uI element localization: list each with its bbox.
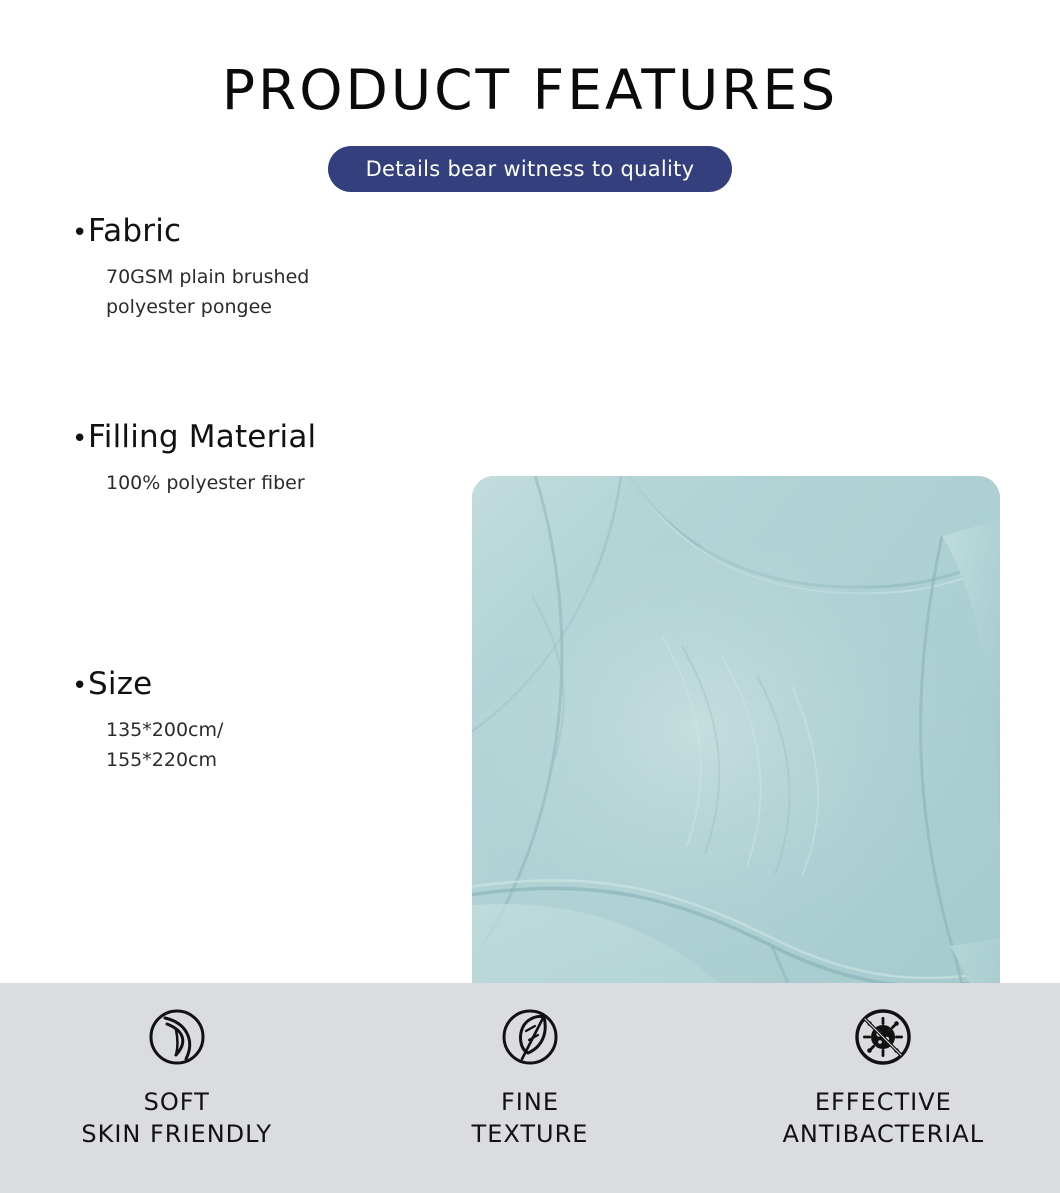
benefit-label: EFFECTIVE ANTIBACTERIAL — [782, 1087, 984, 1150]
fine-texture-feather-icon — [498, 1005, 562, 1069]
bullet-icon: • — [72, 220, 88, 246]
benefits-band: SOFT SKIN FRIENDLY FINE TEXTURE — [0, 983, 1060, 1193]
antibacterial-no-germ-icon — [851, 1005, 915, 1069]
feature-description-line: 135*200cm/ — [106, 716, 432, 745]
page-title: PRODUCT FEATURES — [0, 62, 1060, 120]
feature-item-size: • Size 135*200cm/ 155*220cm — [72, 667, 432, 776]
soft-feather-circle-icon — [145, 1005, 209, 1069]
page-header: PRODUCT FEATURES Details bear witness to… — [0, 0, 1060, 192]
subtitle-badge-container: Details bear witness to quality — [0, 146, 1060, 192]
benefit-item-fine-texture: FINE TEXTURE — [353, 983, 706, 1150]
feature-description: 100% polyester fiber — [106, 469, 432, 498]
feature-description-line: 155*220cm — [106, 746, 432, 775]
benefit-label-line2: TEXTURE — [472, 1119, 589, 1151]
feature-description: 135*200cm/ 155*220cm — [106, 716, 432, 775]
main-content: • Fabric 70GSM plain brushed polyester p… — [0, 192, 1060, 892]
benefit-label: FINE TEXTURE — [472, 1087, 589, 1150]
bullet-icon: • — [72, 426, 88, 452]
feature-title: Fabric — [88, 214, 181, 250]
subtitle-badge: Details bear witness to quality — [328, 146, 733, 192]
feature-description: 70GSM plain brushed polyester pongee — [106, 263, 432, 322]
feature-description-line: 100% polyester fiber — [106, 469, 432, 498]
benefit-label-line1: FINE — [472, 1087, 589, 1119]
benefit-item-effective-antibacterial: EFFECTIVE ANTIBACTERIAL — [707, 983, 1060, 1150]
feature-heading-row: • Fabric — [72, 214, 432, 250]
benefit-label: SOFT SKIN FRIENDLY — [81, 1087, 272, 1150]
feature-title: Size — [88, 667, 152, 703]
benefit-item-soft-skin-friendly: SOFT SKIN FRIENDLY — [0, 983, 353, 1150]
benefit-label-line2: SKIN FRIENDLY — [81, 1119, 272, 1151]
feature-description-line: 70GSM plain brushed — [106, 263, 432, 292]
feature-heading-row: • Size — [72, 667, 432, 703]
feature-description-line: polyester pongee — [106, 293, 432, 322]
benefit-label-line1: SOFT — [81, 1087, 272, 1119]
feature-item-filling-material: • Filling Material 100% polyester fiber — [72, 420, 432, 499]
bullet-icon: • — [72, 673, 88, 699]
feature-item-fabric: • Fabric 70GSM plain brushed polyester p… — [72, 214, 432, 323]
benefit-label-line1: EFFECTIVE — [782, 1087, 984, 1119]
benefit-label-line2: ANTIBACTERIAL — [782, 1119, 984, 1151]
feature-title: Filling Material — [88, 420, 316, 456]
feature-heading-row: • Filling Material — [72, 420, 432, 456]
